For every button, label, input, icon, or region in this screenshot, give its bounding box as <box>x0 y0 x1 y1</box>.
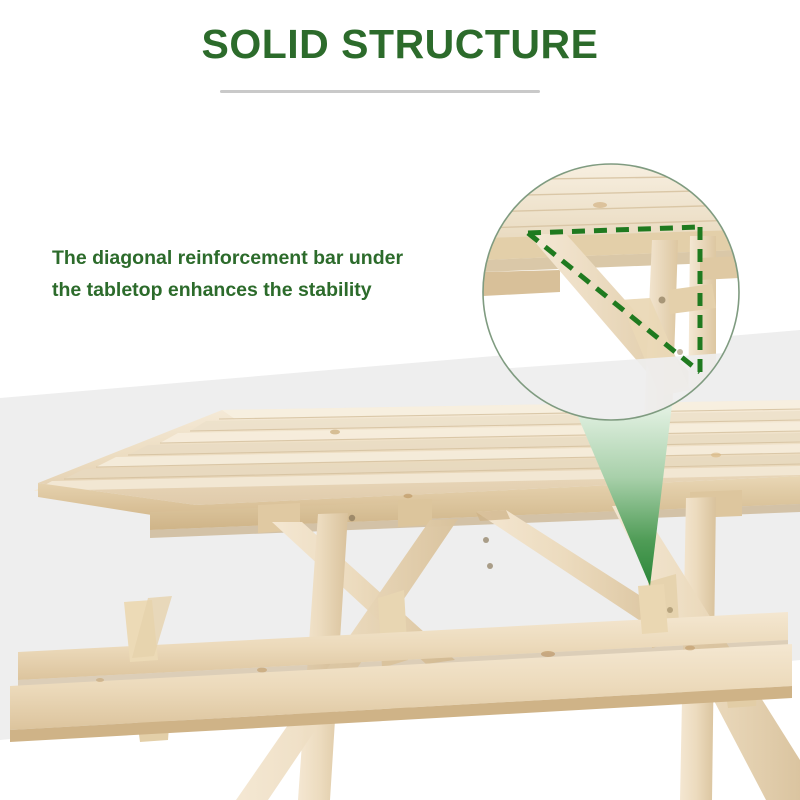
page-title: SOLID STRUCTURE <box>0 22 800 67</box>
wood-knot <box>330 430 340 435</box>
feature-caption-line-2: the tabletop enhances the stability <box>52 275 452 307</box>
bolt <box>483 537 489 543</box>
feature-caption: The diagonal reinforcement bar under the… <box>52 243 452 306</box>
picnic-table-illustration <box>0 0 800 800</box>
product-feature-image: SOLID STRUCTURE The diagonal reinforceme… <box>0 0 800 800</box>
wood-knot <box>685 646 695 651</box>
bolt <box>667 607 673 613</box>
wood-knot <box>592 423 600 427</box>
wood-knot <box>257 668 267 673</box>
mount-block <box>398 499 432 527</box>
title-divider <box>220 90 540 93</box>
wood-knot <box>404 494 413 498</box>
bolt <box>349 515 355 521</box>
bolt <box>487 563 493 569</box>
wood-knot <box>541 651 555 657</box>
bench-support <box>638 584 668 634</box>
wood-knot <box>96 678 104 682</box>
feature-caption-line-1: The diagonal reinforcement bar under <box>52 243 452 275</box>
wood-knot <box>711 453 721 458</box>
